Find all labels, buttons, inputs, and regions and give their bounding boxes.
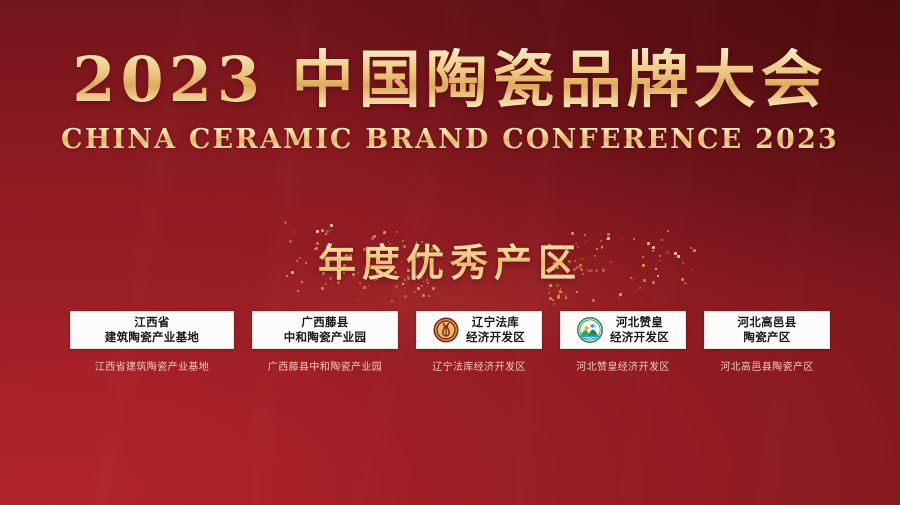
winner-caption: 江西省建筑陶瓷产业基地 <box>95 358 209 373</box>
winner-card[interactable]: 辽宁法库 经济开发区 <box>416 311 542 349</box>
winner-card-item: 广西藤县 中和陶瓷产业园广西藤县中和陶瓷产业园 <box>252 311 398 373</box>
conference-title-en: CHINA CERAMIC BRAND CONFERENCE 2023 <box>0 124 900 155</box>
award-section-label: 年度优秀产区 <box>318 232 582 287</box>
winner-caption: 广西藤县中和陶瓷产业园 <box>268 358 382 373</box>
winner-card[interactable]: 河北高邑县 陶瓷产区 <box>704 311 830 349</box>
conference-title-cn: 2023 中国陶瓷品牌大会 <box>0 48 900 111</box>
winner-card[interactable]: 江西省 建筑陶瓷产业基地 <box>70 311 234 349</box>
award-section-header: 年度优秀产区 <box>0 232 900 287</box>
winner-caption: 辽宁法库经济开发区 <box>432 358 526 373</box>
conference-poster: 2023 中国陶瓷品牌大会 CHINA CERAMIC BRAND CONFER… <box>0 0 900 505</box>
winner-card-item: 河北高邑县 陶瓷产区河北高邑县陶瓷产区 <box>704 311 830 373</box>
winner-card-list: 江西省 建筑陶瓷产业基地江西省建筑陶瓷产业基地广西藤县 中和陶瓷产业园广西藤县中… <box>0 311 900 373</box>
winner-card-name: 辽宁法库 经济开发区 <box>466 315 525 345</box>
winner-caption: 河北赞皇经济开发区 <box>576 358 670 373</box>
winner-caption: 河北高邑县陶瓷产区 <box>720 358 814 373</box>
winner-card[interactable]: 广西藤县 中和陶瓷产业园 <box>252 311 398 349</box>
winner-card[interactable]: 河北赞皇 经济开发区 <box>560 311 686 349</box>
poster-header: 2023 中国陶瓷品牌大会 CHINA CERAMIC BRAND CONFER… <box>0 48 900 155</box>
liaoning-faku-seal-icon <box>433 317 459 343</box>
winner-card-item: 河北赞皇 经济开发区河北赞皇经济开发区 <box>560 311 686 373</box>
winner-card-name: 江西省 建筑陶瓷产业基地 <box>105 315 199 345</box>
winner-card-item: 辽宁法库 经济开发区辽宁法库经济开发区 <box>416 311 542 373</box>
winner-card-name: 河北高邑县 陶瓷产区 <box>738 315 797 345</box>
winner-card-name: 广西藤县 中和陶瓷产业园 <box>284 315 367 345</box>
hebei-zanhuang-emblem-icon <box>577 317 603 343</box>
winner-card-name: 河北赞皇 经济开发区 <box>610 315 669 345</box>
winner-card-item: 江西省 建筑陶瓷产业基地江西省建筑陶瓷产业基地 <box>70 311 234 373</box>
